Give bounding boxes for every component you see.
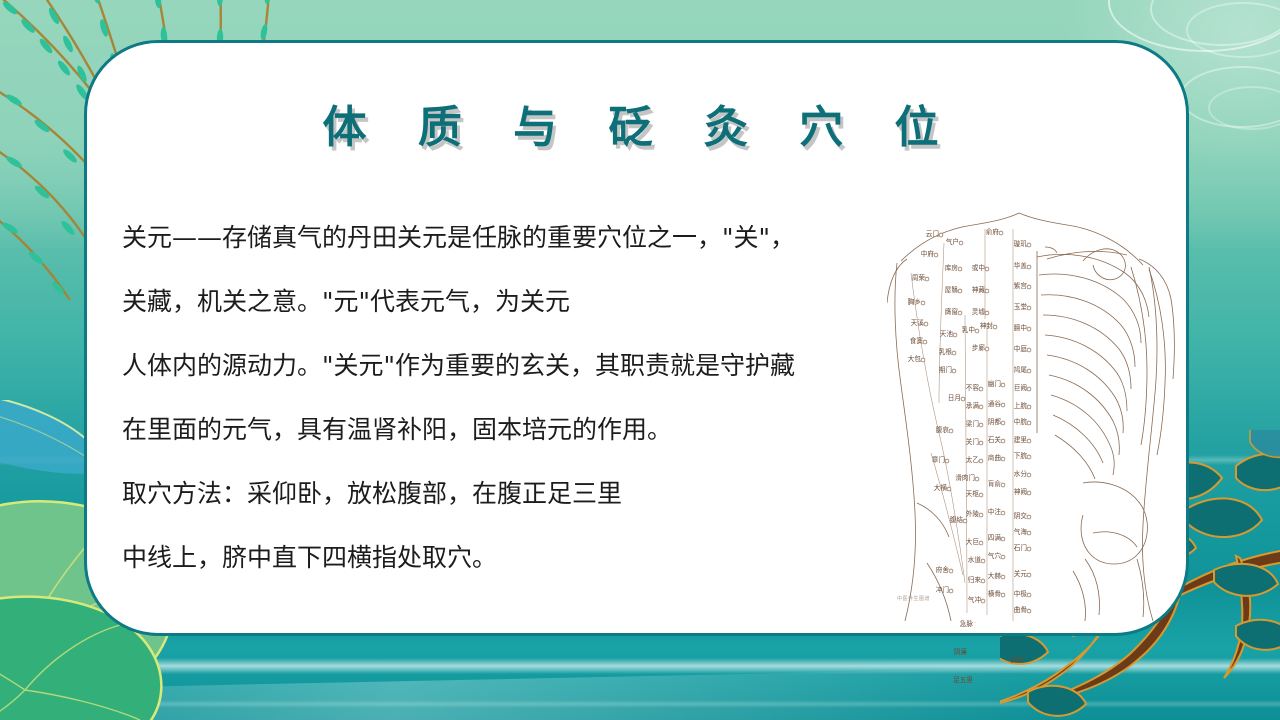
acupoint-label: 周荣 [912, 275, 925, 282]
acupoint-marker [979, 441, 983, 445]
acupoint-marker [1027, 473, 1031, 477]
acupoint-label: 石关 [988, 437, 1001, 444]
acupoint-marker [959, 241, 963, 245]
acupoint-label: 阴廉 [954, 649, 967, 656]
acupoint-label: 急脉 [960, 621, 973, 628]
body-line: 在里面的元气，具有温肾补阳，固本培元的作用。 [122, 398, 922, 462]
acupoint-label: 建里 [1014, 437, 1027, 444]
acupoint-label: 大赫 [988, 573, 1001, 580]
acupoint-marker [1027, 348, 1031, 352]
acupoint-label: 气穴 [988, 553, 1001, 560]
acupoint-marker [1027, 439, 1031, 443]
acupoint-marker [1027, 593, 1031, 597]
acupoint-marker [985, 289, 989, 293]
acupoint-label: 归来 [968, 577, 981, 584]
acupoint-marker [975, 477, 979, 481]
acupoint-label: 会阴 [1010, 657, 1023, 664]
slide-stage: 体 质 与 砭 灸 穴 位 关元——存储真气的丹田关元是任脉的重要穴位之一，"关… [0, 0, 1280, 720]
acupoint-marker [958, 267, 962, 271]
acupoint-label: 水分 [1014, 471, 1027, 478]
acupoint-marker [1001, 483, 1005, 487]
body-text-block: 关元——存储真气的丹田关元是任脉的重要穴位之一，"关"， 关藏，机关之意。"元"… [122, 206, 922, 590]
acupoint-label: 气冲 [968, 597, 981, 604]
acupoint-label: 神封 [980, 323, 993, 330]
acupoint-marker [934, 253, 938, 257]
acupoint-label: 紫宫 [1014, 283, 1027, 290]
acupoint-label: 天枢 [966, 491, 979, 498]
acupoint-label: 通谷 [988, 401, 1001, 408]
acupoint-label: 承满 [966, 403, 979, 410]
acupoint-label: 灵墟 [972, 309, 985, 316]
acupoint-marker [979, 541, 983, 545]
content-card: 体 质 与 砭 灸 穴 位 关元——存储真气的丹田关元是任脉的重要穴位之一，"关… [84, 40, 1189, 636]
acupoint-marker [999, 231, 1003, 235]
acupoint-label: 璇玑 [1014, 241, 1027, 248]
acupoint-label: 天池 [940, 331, 953, 338]
acupoint-label: 鸠尾 [1014, 367, 1027, 374]
acupoint-marker [952, 369, 956, 373]
acupoint-label: 神阙 [1014, 489, 1027, 496]
acupoint-label: 关门 [966, 439, 979, 446]
acupoint-marker [1027, 387, 1031, 391]
acupoint-marker [1027, 573, 1031, 577]
acupoint-label: 气海 [1014, 529, 1027, 536]
acupoint-marker [981, 599, 985, 603]
acupoint-marker [979, 423, 983, 427]
acupoint-label: 腹结 [950, 517, 963, 524]
acupoint-marker [953, 333, 957, 337]
acupoint-label: 曲骨 [1014, 607, 1027, 614]
acupoint-label: 大巨 [966, 539, 979, 546]
body-line: 人体内的源动力。"关元"作为重要的玄关，其职责就是守护藏 [122, 334, 922, 398]
body-line: 中线上，脐中直下四横指处取穴。 [122, 526, 922, 590]
acupoint-label: 食窦 [910, 338, 923, 345]
acupoint-label: 神藏 [972, 287, 985, 294]
acupoint-label: 屋翳 [945, 287, 958, 294]
acupoint-marker [939, 233, 943, 237]
acupoint-label: 乳根 [939, 349, 952, 356]
acupoint-marker [1027, 547, 1031, 551]
acupoint-label: 库房 [945, 265, 958, 272]
acupoint-marker [1027, 455, 1031, 459]
acupuncture-chart-svg [887, 203, 1177, 623]
acupoint-marker [993, 325, 997, 329]
acupoint-label: 俞府 [986, 229, 999, 236]
acupoint-marker [921, 358, 925, 362]
acupoint-marker [979, 513, 983, 517]
acupoint-label: 不容 [966, 385, 979, 392]
acupoint-label: 或中 [972, 265, 985, 272]
acupoint-marker [1027, 515, 1031, 519]
acupoint-label: 章门 [932, 457, 945, 464]
acupoint-marker [961, 397, 965, 401]
acupoint-marker [1027, 531, 1031, 535]
acupoint-marker [985, 347, 989, 351]
acupoint-label: 大包 [908, 356, 921, 363]
acupoint-marker [981, 579, 985, 583]
acupoint-marker [1001, 537, 1005, 541]
acupoint-marker [985, 267, 989, 271]
acupoint-label: 肓俞 [988, 481, 1001, 488]
acupoint-label: 下脘 [1014, 453, 1027, 460]
acupoint-marker [1027, 421, 1031, 425]
acupoint-marker [1001, 511, 1005, 515]
acupoint-marker [963, 519, 967, 523]
acupoint-marker [1027, 306, 1031, 310]
acupoint-marker [1027, 243, 1031, 247]
acupoint-label: 滑肉门 [955, 475, 975, 482]
acupoint-marker [923, 340, 927, 344]
acupoint-label: 中极 [1014, 591, 1027, 598]
acupoint-marker [979, 387, 983, 391]
acupoint-label: 天溪 [911, 320, 924, 327]
acupoint-marker [952, 351, 956, 355]
acupoint-label: 中府 [921, 251, 934, 258]
acupoint-label: 四满 [988, 535, 1001, 542]
acupoint-marker [1027, 369, 1031, 373]
acupoint-label: 梁门 [966, 421, 979, 428]
acupoint-label: 上脘 [1014, 403, 1027, 410]
acupoint-marker [1001, 555, 1005, 559]
acupoint-label: 横骨 [988, 591, 1001, 598]
acupoint-marker [1027, 491, 1031, 495]
body-line: 关藏，机关之意。"元"代表元气，为关元 [122, 270, 922, 334]
acupoint-marker [1027, 609, 1031, 613]
acupoint-marker [958, 311, 962, 315]
acupoint-label: 中庭 [1014, 346, 1027, 353]
acupoint-marker [1001, 439, 1005, 443]
acupoint-marker [1027, 285, 1031, 289]
acupoint-marker [958, 289, 962, 293]
acupoint-marker [1001, 593, 1005, 597]
acupoint-label: 关元 [1014, 571, 1027, 578]
acupoint-marker [1027, 327, 1031, 331]
acupoint-label: 膺窗 [945, 309, 958, 316]
acupoint-marker [981, 559, 985, 563]
acupoint-marker [979, 459, 983, 463]
acupoint-marker [979, 405, 983, 409]
acupoint-label: 幽门 [988, 381, 1001, 388]
acupoint-marker [947, 487, 951, 491]
acupoint-label: 中注 [988, 509, 1001, 516]
acupoint-marker [979, 493, 983, 497]
acupoint-label: 商曲 [988, 455, 1001, 462]
acupoint-label: 石门 [1014, 545, 1027, 552]
acupoint-label: 期门 [939, 367, 952, 374]
acupoint-label: 冲门 [936, 587, 949, 594]
acupoint-marker [925, 277, 929, 281]
acupoint-marker [924, 322, 928, 326]
acupoint-label: 巨阙 [1014, 385, 1027, 392]
body-line: 取穴方法：采仰卧，放松腹部，在腹正足三里 [122, 462, 922, 526]
acupoint-label: 日月 [948, 395, 961, 402]
acupoint-label: 阴交 [1014, 513, 1027, 520]
acupoint-label: 玉堂 [1014, 304, 1027, 311]
acupoint-label: 气户 [946, 239, 959, 246]
acupoint-label: 水道 [968, 557, 981, 564]
acupoint-marker [1001, 575, 1005, 579]
acupuncture-point-chart: 云门中府周荣胸乡天溪食窦大包气户库房屋翳膺窗天池乳根期门或中神藏灵墟神封乳中步廊… [887, 203, 1177, 623]
acupoint-marker [1027, 265, 1031, 269]
body-line: 关元——存储真气的丹田关元是任脉的重要穴位之一，"关"， [122, 206, 922, 270]
acupoint-marker [949, 429, 953, 433]
acupoint-marker [945, 459, 949, 463]
acupoint-label: 腹哀 [936, 427, 949, 434]
acupoint-label: 步廊 [972, 345, 985, 352]
acupoint-marker [1001, 421, 1005, 425]
acupoint-label: 太乙 [966, 457, 979, 464]
acupoint-marker [975, 329, 979, 333]
acupoint-marker [949, 589, 953, 593]
acupoint-label: 华盖 [1014, 263, 1027, 270]
acupoint-marker [985, 311, 989, 315]
acupoint-label: 乳中 [962, 327, 975, 334]
acupoint-marker [921, 301, 925, 305]
acupoint-label: 足五里 [953, 677, 973, 684]
acupoint-marker [1027, 405, 1031, 409]
acupoint-marker [1001, 383, 1005, 387]
acupoint-label: 膻中 [1014, 325, 1027, 332]
acupoint-marker [949, 569, 953, 573]
acupoint-marker [1001, 457, 1005, 461]
acupoint-label: 胸乡 [908, 299, 921, 306]
acupoint-label: 大横 [934, 485, 947, 492]
page-title: 体 质 与 砭 灸 穴 位 [87, 91, 1192, 155]
acupoint-label: 中脘 [1014, 419, 1027, 426]
acupoint-label: 阴都 [988, 419, 1001, 426]
chart-watermark: 中医养生图谱 [897, 595, 930, 602]
acupoint-label: 府舍 [936, 567, 949, 574]
acupoint-label: 云门 [926, 231, 939, 238]
acupoint-marker [1001, 403, 1005, 407]
acupoint-label: 外陵 [966, 511, 979, 518]
